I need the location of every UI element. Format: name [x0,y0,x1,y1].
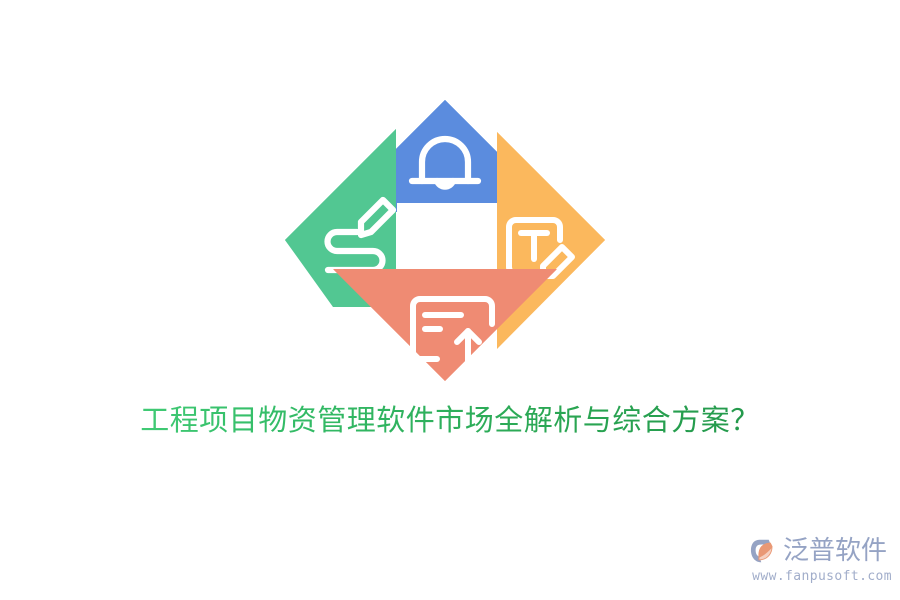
watermark-url: www.fanpusoft.com [750,569,892,585]
segment-shape-right-fill [497,132,605,349]
segment-shape-bottom-fill [333,269,557,381]
fanpu-brand-mark-icon [750,536,780,566]
page-title: 工程项目物资管理软件市场全解析与综合方案？ [0,399,900,441]
hero-segment-right [497,132,605,349]
hero-center-panel [397,203,497,269]
watermark-logo: 泛普软件 www.fanpusoft.com [750,534,892,590]
hero-illustration [285,100,605,381]
watermark-brand-name: 泛普软件 [783,536,887,566]
hero-segment-bottom [333,269,557,381]
